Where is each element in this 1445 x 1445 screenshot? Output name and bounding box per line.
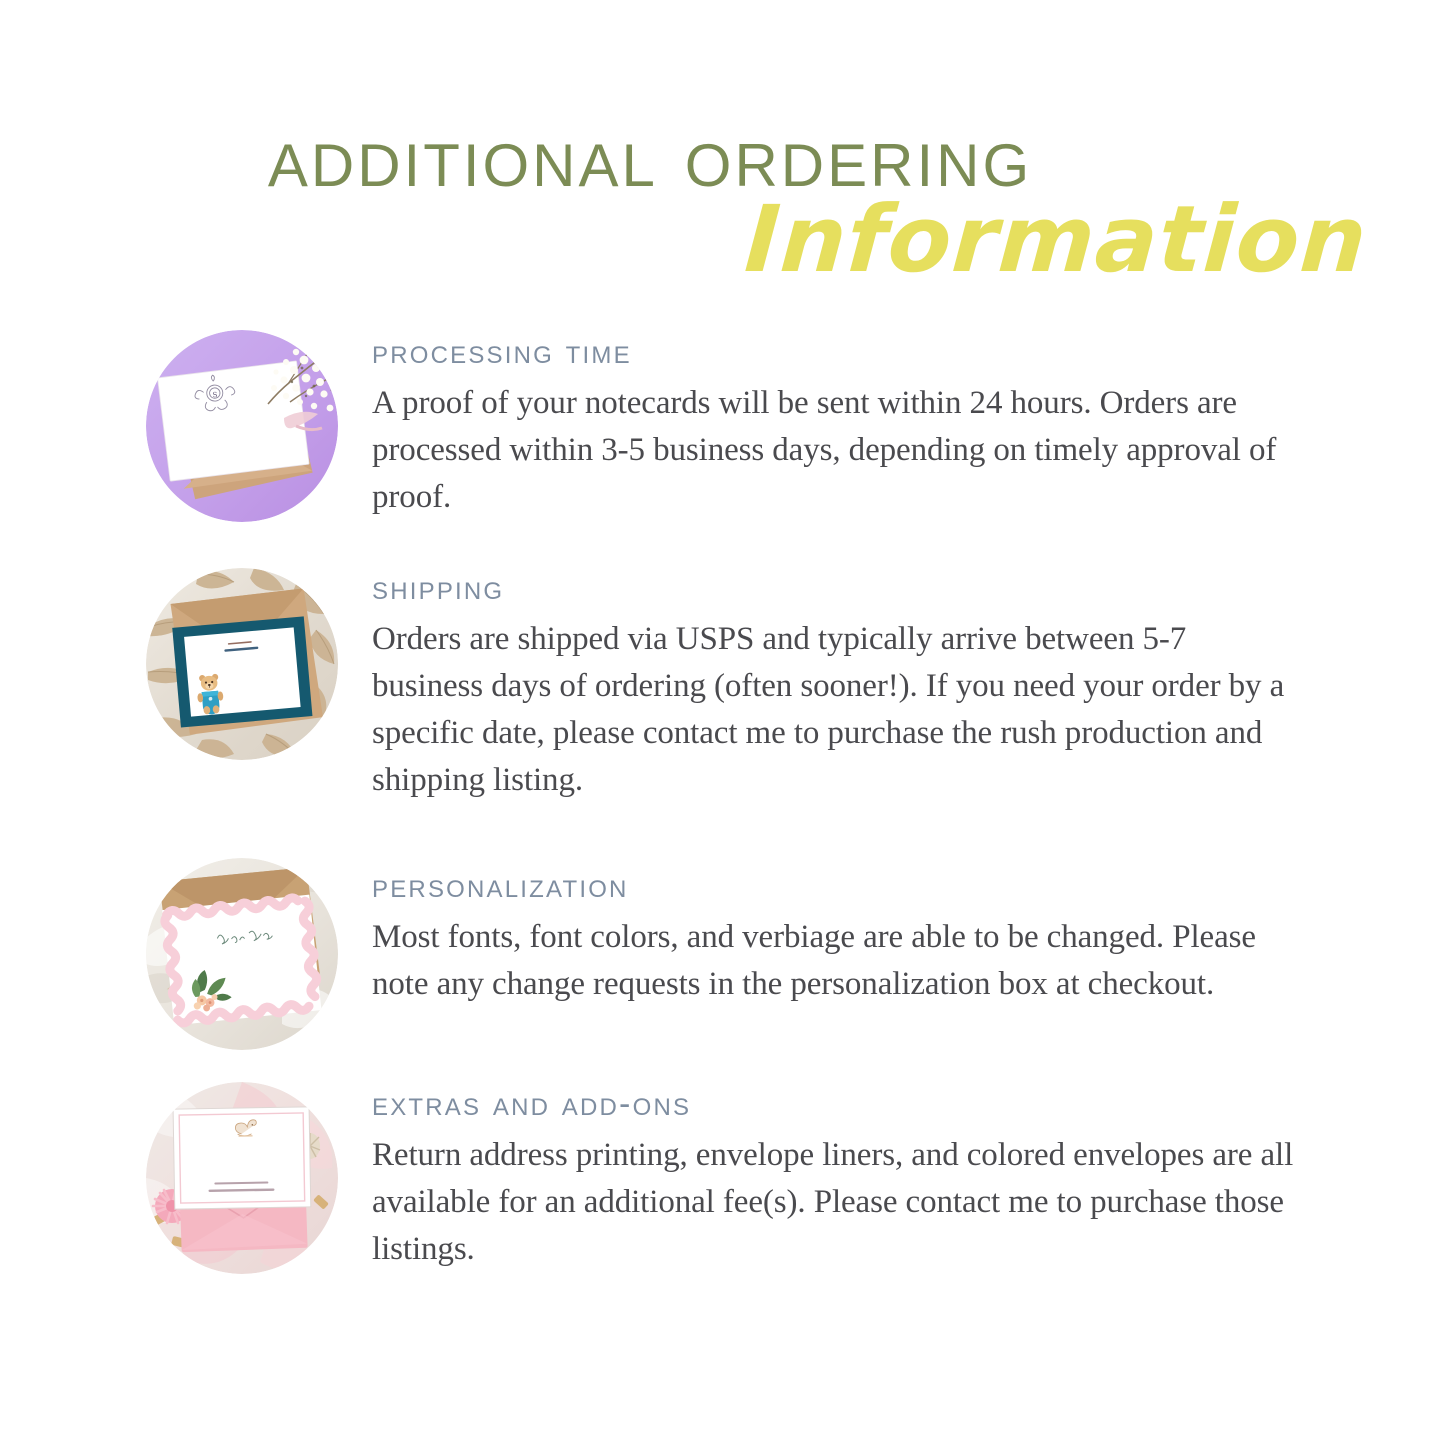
section-text-block: Extras and Add-Ons Return address printi… (372, 1082, 1302, 1273)
section-processing-time: S (0, 330, 1445, 522)
section-body: Most fonts, font colors, and verbiage ar… (372, 914, 1302, 1008)
section-body: Return address printing, envelope liners… (372, 1132, 1302, 1273)
section-heading: Personalization (372, 866, 1302, 906)
section-personalization: Personalization Most fonts, font colors,… (0, 858, 1445, 1050)
pink-scalloped-notecard-photo (146, 858, 338, 1050)
section-text-block: Shipping Orders are shipped via USPS and… (372, 568, 1302, 804)
section-heading: Extras and Add-Ons (372, 1084, 1302, 1124)
section-text-block: Processing Time A proof of your notecard… (372, 330, 1302, 521)
section-body: A proof of your notecards will be sent w… (372, 380, 1302, 521)
sections-list: S (0, 330, 1445, 1274)
section-shipping: Shipping Orders are shipped via USPS and… (0, 568, 1445, 804)
lavender-notecard-photo: S (146, 330, 338, 522)
section-heading: Processing Time (372, 332, 1302, 372)
ordering-information-page: Additional Ordering Information (0, 0, 1445, 1445)
page-title-script: Information (0, 186, 1445, 294)
section-extras-and-add-ons: Extras and Add-Ons Return address printi… (0, 1082, 1445, 1274)
page-title-block: Additional Ordering Information (0, 112, 1445, 302)
teddy-bear-notecard-photo (146, 568, 338, 760)
section-text-block: Personalization Most fonts, font colors,… (372, 858, 1302, 1008)
section-heading: Shipping (372, 568, 1302, 608)
section-body: Orders are shipped via USPS and typicall… (372, 616, 1302, 804)
pink-envelope-notecard-photo (146, 1082, 338, 1274)
